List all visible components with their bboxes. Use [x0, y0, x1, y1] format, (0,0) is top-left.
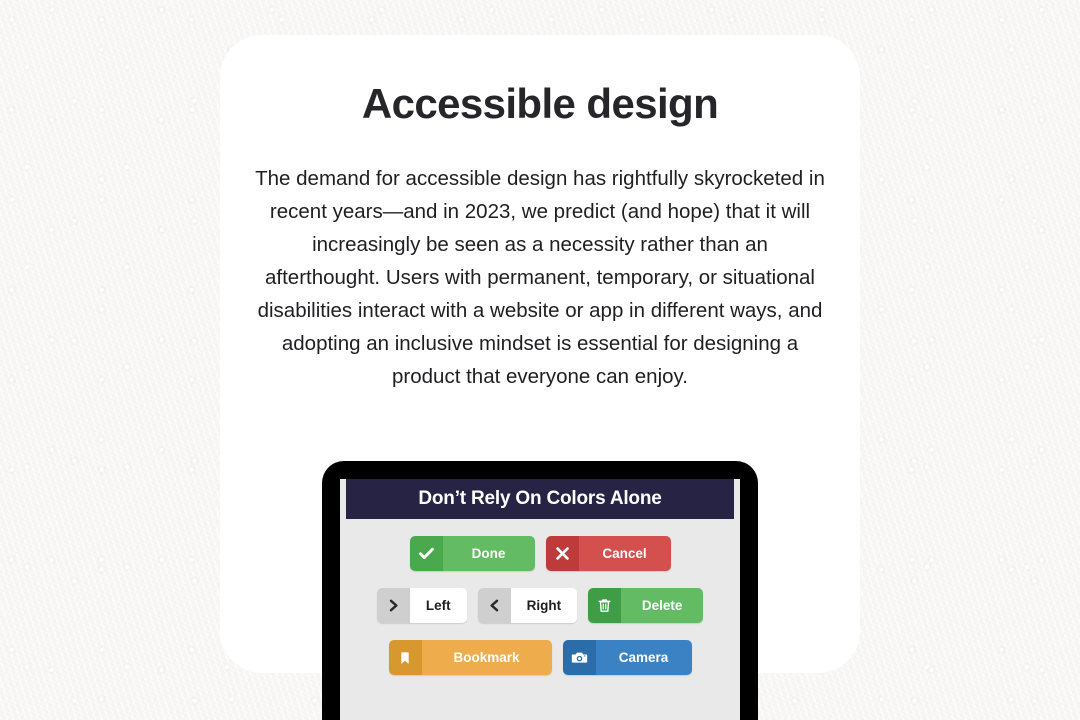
delete-button[interactable]: Delete — [588, 588, 703, 623]
trash-icon — [588, 588, 621, 623]
button-row-navigation-actions: Left Right — [340, 588, 740, 623]
camera-button[interactable]: Camera — [563, 640, 692, 675]
done-button-label: Done — [443, 536, 535, 571]
x-icon — [546, 536, 579, 571]
left-button-label: Left — [410, 588, 467, 623]
cancel-button-label: Cancel — [579, 536, 671, 571]
tablet-screen: Don’t Rely On Colors Alone Done Cancel — [340, 479, 740, 720]
tablet-device-mockup: Don’t Rely On Colors Alone Done Cancel — [322, 461, 758, 720]
delete-button-label: Delete — [621, 588, 703, 623]
page-title: Accessible design — [220, 80, 860, 128]
right-button-label: Right — [511, 588, 578, 623]
bookmark-button-label: Bookmark — [422, 640, 552, 675]
screen-header-title: Don’t Rely On Colors Alone — [418, 488, 661, 510]
done-button[interactable]: Done — [410, 536, 535, 571]
bookmark-button[interactable]: Bookmark — [389, 640, 552, 675]
camera-button-label: Camera — [596, 640, 692, 675]
right-button[interactable]: Right — [478, 588, 578, 623]
button-row-primary-actions: Done Cancel — [340, 536, 740, 571]
check-icon — [410, 536, 443, 571]
left-button[interactable]: Left — [377, 588, 467, 623]
chevron-left-icon — [478, 588, 511, 623]
camera-icon — [563, 640, 596, 675]
bookmark-icon — [389, 640, 422, 675]
cancel-button[interactable]: Cancel — [546, 536, 671, 571]
screen-header-bar: Don’t Rely On Colors Alone — [346, 479, 734, 519]
chevron-right-icon — [377, 588, 410, 623]
article-paragraph: The demand for accessible design has rig… — [254, 162, 826, 393]
button-row-secondary-actions: Bookmark Camera — [340, 640, 740, 675]
